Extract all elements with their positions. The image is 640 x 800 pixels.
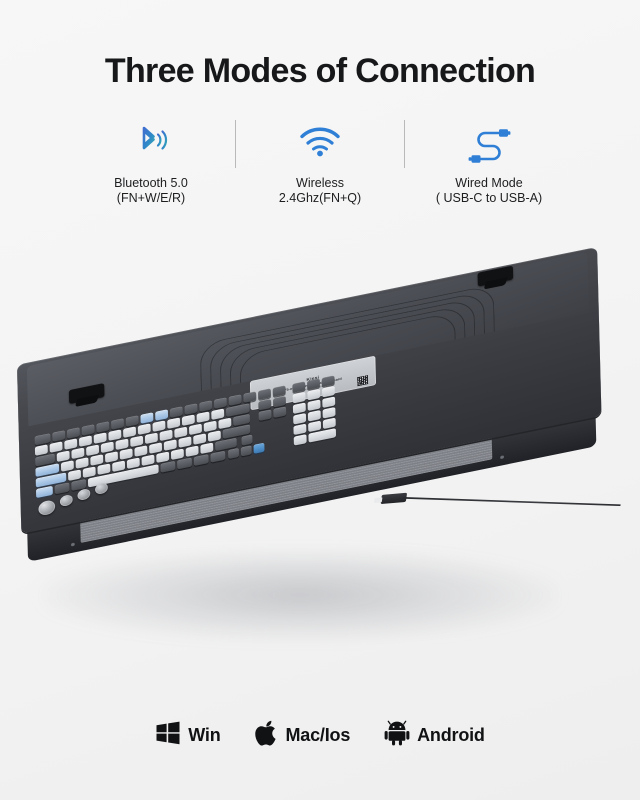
key[interactable] [155, 409, 168, 421]
product-image: Kiesi 75-mode Mechanical Keyboard Model … [0, 250, 640, 670]
key[interactable] [82, 424, 95, 436]
key[interactable] [258, 399, 271, 411]
key-win[interactable] [55, 482, 70, 494]
usb-cable [402, 497, 620, 506]
key[interactable] [35, 433, 51, 445]
key[interactable] [322, 397, 335, 409]
key[interactable] [52, 430, 65, 442]
key[interactable] [199, 400, 212, 412]
android-icon [384, 720, 410, 751]
key[interactable] [67, 427, 80, 439]
os-apple: Mac/Ios [255, 719, 351, 752]
wifi-icon [295, 116, 345, 168]
key-arrow-right[interactable] [254, 443, 265, 454]
front-screw [500, 455, 504, 459]
key-ctrl-left[interactable] [36, 486, 53, 498]
feature-bluetooth-label: Bluetooth 5.0 (FN+W/E/R) [114, 176, 188, 206]
key-arrow-left[interactable] [228, 448, 239, 459]
key[interactable] [200, 443, 213, 455]
key[interactable] [293, 402, 306, 414]
key[interactable] [170, 406, 183, 418]
bluetooth-icon [128, 116, 174, 168]
key[interactable] [243, 391, 256, 403]
key-fn[interactable] [177, 457, 192, 469]
feature-wired: Wired Mode ( USB-C to USB-A) [405, 116, 573, 206]
os-windows-label: Win [188, 725, 220, 746]
key[interactable] [185, 403, 198, 415]
media-button[interactable] [95, 482, 108, 495]
connection-modes-row: Bluetooth 5.0 (FN+W/E/R) Wireless 2.4Ghz… [0, 116, 640, 220]
os-apple-label: Mac/Ios [286, 725, 351, 746]
media-button[interactable] [77, 488, 90, 501]
key[interactable] [294, 434, 307, 446]
feature-wireless: Wireless 2.4Ghz(FN+Q) [236, 116, 404, 206]
front-screw [71, 543, 75, 547]
key-arrow-up[interactable] [241, 435, 252, 446]
volume-knob[interactable] [38, 499, 55, 516]
key-arrow-down[interactable] [241, 445, 252, 456]
key-alt-right[interactable] [160, 461, 175, 473]
key[interactable] [96, 421, 109, 433]
os-windows: Win [155, 720, 220, 751]
feature-wireless-label: Wireless 2.4Ghz(FN+Q) [279, 176, 361, 206]
key[interactable] [126, 415, 139, 427]
key[interactable] [273, 406, 286, 418]
key-menu[interactable] [194, 454, 209, 466]
key[interactable] [140, 412, 153, 424]
key-ctrl-right[interactable] [210, 451, 225, 463]
feature-wired-label: Wired Mode ( USB-C to USB-A) [436, 176, 542, 206]
windows-icon [155, 720, 181, 751]
os-compatibility-row: Win Mac/Ios Android [0, 714, 640, 756]
apple-icon [255, 719, 279, 752]
usb-cable-icon [463, 116, 515, 168]
key[interactable] [259, 409, 272, 421]
os-android-label: Android [417, 725, 485, 746]
key[interactable] [308, 410, 321, 422]
page-title: Three Modes of Connection [0, 52, 640, 91]
key[interactable] [111, 418, 124, 430]
media-button[interactable] [60, 494, 73, 507]
key[interactable] [214, 397, 227, 409]
os-android: Android [384, 720, 485, 751]
feature-bluetooth: Bluetooth 5.0 (FN+W/E/R) [67, 116, 235, 206]
